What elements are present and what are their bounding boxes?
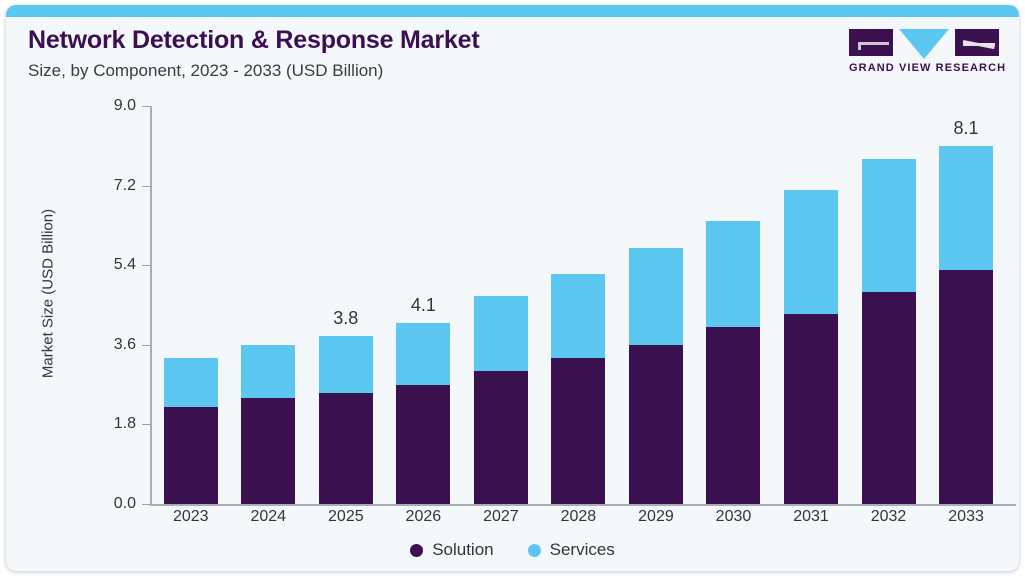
legend-item-solution[interactable]: Solution — [410, 540, 493, 560]
bar-segment-solution[interactable] — [784, 314, 838, 504]
bar-column[interactable] — [160, 100, 222, 504]
logo-marks — [849, 29, 999, 57]
bar-column[interactable] — [857, 100, 919, 504]
y-axis-ticks: 9.07.25.43.61.80.0 — [66, 100, 150, 520]
x-axis-tick-label: 2027 — [470, 508, 532, 526]
bar-stack[interactable] — [629, 248, 683, 504]
brand-logo: GRAND VIEW RESEARCH — [849, 29, 999, 74]
bar-stack[interactable] — [551, 274, 605, 504]
bar-column[interactable]: 3.8 — [315, 100, 377, 504]
bar-segment-services[interactable] — [474, 296, 528, 371]
bar-segment-services[interactable] — [551, 274, 605, 358]
bar-column[interactable]: 8.1 — [935, 100, 997, 504]
bar-series-group: 3.84.18.1 — [152, 100, 1005, 504]
logo-v-triangle-icon — [899, 29, 949, 59]
x-axis-tick-label: 2026 — [392, 508, 454, 526]
x-axis-tick-label: 2030 — [702, 508, 764, 526]
x-axis-tick-label: 2028 — [547, 508, 609, 526]
bar-column[interactable] — [237, 100, 299, 504]
bar-stack[interactable] — [706, 221, 760, 504]
bar-segment-services[interactable] — [629, 248, 683, 345]
bar-column[interactable] — [625, 100, 687, 504]
bar-stack[interactable] — [784, 190, 838, 504]
bar-segment-services[interactable] — [396, 323, 450, 385]
y-axis-tick-label: 1.8 — [114, 415, 136, 433]
bar-segment-services[interactable] — [164, 358, 218, 407]
y-axis-tick-label: 7.2 — [114, 177, 136, 195]
bar-stack[interactable]: 3.8 — [319, 336, 373, 504]
y-axis-tick-mark — [142, 345, 150, 346]
bar-column[interactable] — [470, 100, 532, 504]
bar-value-label: 3.8 — [333, 308, 358, 329]
bar-segment-solution[interactable] — [474, 371, 528, 504]
x-axis-tick-label: 2031 — [780, 508, 842, 526]
plot-area: Market Size (USD Billion) 9.07.25.43.61.… — [6, 100, 1019, 520]
y-axis-tick-label: 0.0 — [114, 495, 136, 513]
x-axis-tick-label: 2025 — [315, 508, 377, 526]
x-axis-tick-label: 2032 — [857, 508, 919, 526]
y-axis-label: Market Size (USD Billion) — [40, 144, 57, 444]
bar-segment-solution[interactable] — [551, 358, 605, 504]
bar-segment-solution[interactable] — [706, 327, 760, 504]
bar-column[interactable] — [702, 100, 764, 504]
x-axis-tick-label: 2024 — [237, 508, 299, 526]
legend-label: Services — [550, 540, 615, 560]
bar-column[interactable] — [780, 100, 842, 504]
bar-stack[interactable] — [241, 345, 295, 504]
legend-swatch-icon — [528, 544, 541, 557]
bar-segment-services[interactable] — [939, 146, 993, 270]
chart-screenshot: Network Detection & Response Market Size… — [0, 0, 1025, 576]
bar-value-label: 4.1 — [411, 295, 436, 316]
y-axis-tick-mark — [142, 265, 150, 266]
legend-swatch-icon — [410, 544, 423, 557]
bar-segment-solution[interactable] — [241, 398, 295, 504]
logo-g-icon — [849, 29, 893, 56]
x-axis-ticks: 2023202420252026202720282029203020312032… — [152, 508, 1005, 526]
bar-segment-solution[interactable] — [939, 270, 993, 504]
bar-stack[interactable] — [164, 358, 218, 504]
bar-segment-services[interactable] — [241, 345, 295, 398]
logo-wordmark: GRAND VIEW RESEARCH — [849, 62, 999, 74]
accent-top-bar — [6, 5, 1019, 17]
x-axis-tick-label: 2023 — [160, 508, 222, 526]
chart-card: Network Detection & Response Market Size… — [6, 5, 1019, 571]
bar-segment-services[interactable] — [706, 221, 760, 327]
y-axis-tick-label: 9.0 — [114, 97, 136, 115]
logo-r-icon — [955, 29, 999, 56]
bar-segment-services[interactable] — [784, 190, 838, 314]
bar-segment-services[interactable] — [862, 159, 916, 292]
bar-column[interactable] — [547, 100, 609, 504]
y-axis-tick-mark — [142, 504, 150, 505]
legend-label: Solution — [432, 540, 493, 560]
bar-column[interactable]: 4.1 — [392, 100, 454, 504]
y-axis-tick-label: 3.6 — [114, 336, 136, 354]
bar-stack[interactable] — [474, 296, 528, 504]
legend-item-services[interactable]: Services — [528, 540, 615, 560]
y-axis-tick-mark — [142, 186, 150, 187]
bar-stack[interactable]: 4.1 — [396, 323, 450, 504]
bar-segment-solution[interactable] — [629, 345, 683, 504]
bar-segment-solution[interactable] — [319, 393, 373, 504]
bar-stack[interactable]: 8.1 — [939, 146, 993, 504]
chart-legend: SolutionServices — [6, 540, 1019, 560]
bar-segment-solution[interactable] — [164, 407, 218, 504]
x-axis-tick-label: 2029 — [625, 508, 687, 526]
bar-segment-services[interactable] — [319, 336, 373, 393]
y-axis-tick-label: 5.4 — [114, 256, 136, 274]
bar-segment-solution[interactable] — [396, 385, 450, 504]
bar-stack[interactable] — [862, 159, 916, 504]
bar-value-label: 8.1 — [954, 118, 979, 139]
x-axis-line — [150, 504, 1016, 506]
y-axis-tick-mark — [142, 106, 150, 107]
y-axis-tick-mark — [142, 424, 150, 425]
x-axis-tick-label: 2033 — [935, 508, 997, 526]
bar-segment-solution[interactable] — [862, 292, 916, 504]
